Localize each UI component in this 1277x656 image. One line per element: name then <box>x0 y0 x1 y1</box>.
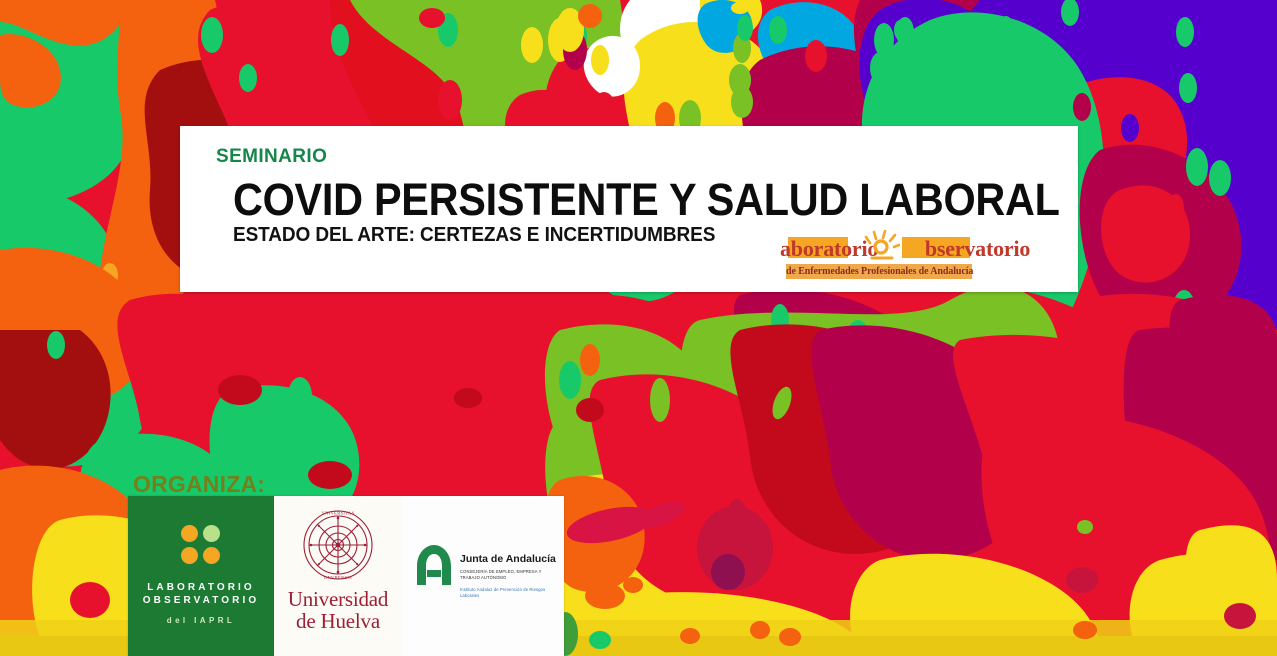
svg-text:ONVBENSIS: ONVBENSIS <box>324 575 352 580</box>
iaprl-line1: LABORATORIO <box>128 582 274 593</box>
organiza-label: ORGANIZA: <box>133 471 265 498</box>
page-title: COVID PERSISTENTE Y SALUD LABORAL <box>233 174 1060 226</box>
slide-canvas: SEMINARIO COVID PERSISTENTE Y SALUD LABO… <box>0 0 1277 656</box>
sponsor-logo-strip: LABORATORIO OBSERVATORIO del IAPRL <box>128 496 564 656</box>
uhu-line2: de Huelva <box>274 610 402 632</box>
logo-word-right: bservatorio <box>925 236 1030 261</box>
sponsor-universidad-de-huelva: VNIVERSITAS ONVBENSIS Universidad de Hue… <box>274 496 402 656</box>
junta-instituto: Instituto Andaluz de Prevención de Riesg… <box>460 587 560 599</box>
junta-title: Junta de Andalucía <box>460 553 556 565</box>
iaprl-line2: OBSERVATORIO <box>128 595 274 606</box>
sponsor-laboratorio-observatorio: LABORATORIO OBSERVATORIO del IAPRL <box>128 496 274 656</box>
uhu-line1: Universidad <box>274 588 402 610</box>
junta-arch-icon <box>416 544 452 586</box>
kicker-seminario: SEMINARIO <box>216 146 327 168</box>
four-dots-icon <box>181 525 221 565</box>
svg-text:VNIVERSITAS: VNIVERSITAS <box>322 511 355 516</box>
sun-person-icon <box>864 230 900 264</box>
iaprl-line3: del IAPRL <box>128 616 274 625</box>
logo-tagline: de Enfermedades Profesionales de Andaluc… <box>786 264 972 279</box>
page-subtitle: ESTADO DEL ARTE: CERTEZAS E INCERTIDUMBR… <box>233 224 715 247</box>
huelva-seal-icon: VNIVERSITAS ONVBENSIS <box>302 509 374 581</box>
junta-consejeria: CONSEJERÍA DE EMPLEO, EMPRESA Y TRABAJO … <box>460 569 560 581</box>
laboratorio-observatorio-logo: aboratorio bservatorio de Enfermedades P… <box>780 234 978 282</box>
uhu-wordmark: Universidad de Huelva <box>274 588 402 632</box>
sponsor-junta-de-andalucia: Junta de Andalucía CONSEJERÍA DE EMPLEO,… <box>402 496 564 656</box>
title-card: SEMINARIO COVID PERSISTENTE Y SALUD LABO… <box>180 126 1078 292</box>
